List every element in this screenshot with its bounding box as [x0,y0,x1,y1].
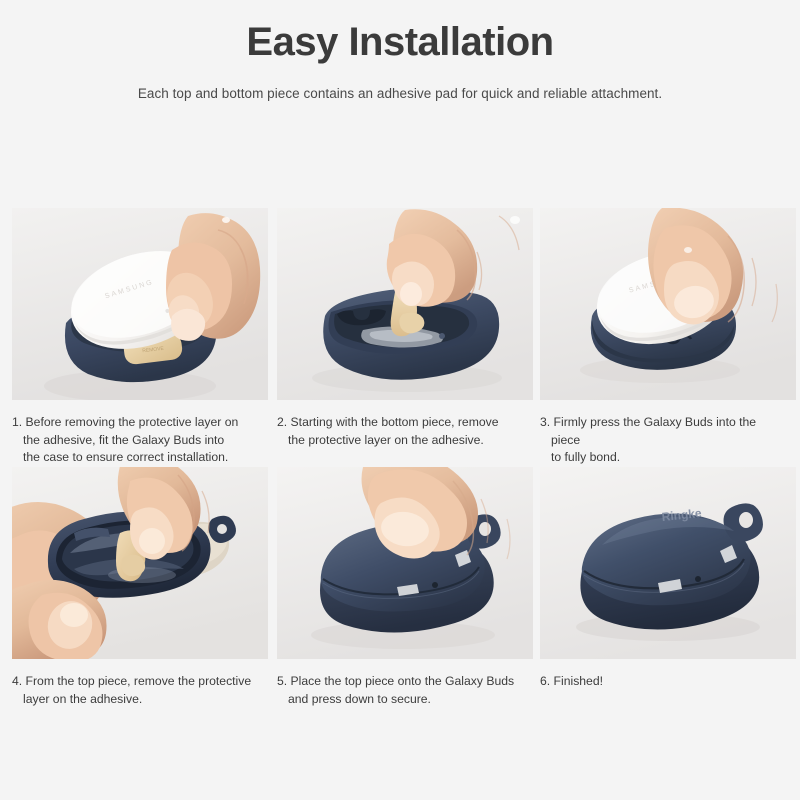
step-2-caption: 2. Starting with the bottom piece, remov… [277,400,533,449]
step-card-2: 2. Starting with the bottom piece, remov… [277,208,533,467]
step-3-caption: 3. Firmly press the Galaxy Buds into the… [540,400,796,467]
step-card-5: 5. Place the top piece onto the Galaxy B… [277,467,533,708]
step-1-caption: 1. Before removing the protective layer … [12,400,268,467]
step-3-photo: SAMSUNG [540,208,796,400]
installation-guide-page: Easy Installation Each top and bottom pi… [0,0,800,800]
step-5-photo [277,467,533,659]
page-header: Easy Installation Each top and bottom pi… [0,0,800,101]
steps-row-bottom: 4. From the top piece, remove the protec… [0,467,800,708]
step-2-photo [277,208,533,400]
step-6-photo: Ringke [540,467,796,659]
step-card-4: 4. From the top piece, remove the protec… [12,467,268,708]
step-4-photo [12,467,268,659]
page-title: Easy Installation [0,18,800,66]
steps-row-top: REMOVE SAMSUNG [0,208,800,467]
step-1-photo: REMOVE SAMSUNG [12,208,268,400]
step-card-1: REMOVE SAMSUNG [12,208,268,467]
step-6-caption: 6. Finished! [540,659,796,691]
page-subtitle: Each top and bottom piece contains an ad… [0,86,800,101]
step-card-3: SAMSUNG 3. Firmly press the Galaxy Buds … [540,208,796,467]
steps-grid: REMOVE SAMSUNG [0,208,800,708]
step-5-caption: 5. Place the top piece onto the Galaxy B… [277,659,533,708]
step-4-caption: 4. From the top piece, remove the protec… [12,659,268,708]
step-card-6: Ringke 6. Finished! [540,467,796,708]
